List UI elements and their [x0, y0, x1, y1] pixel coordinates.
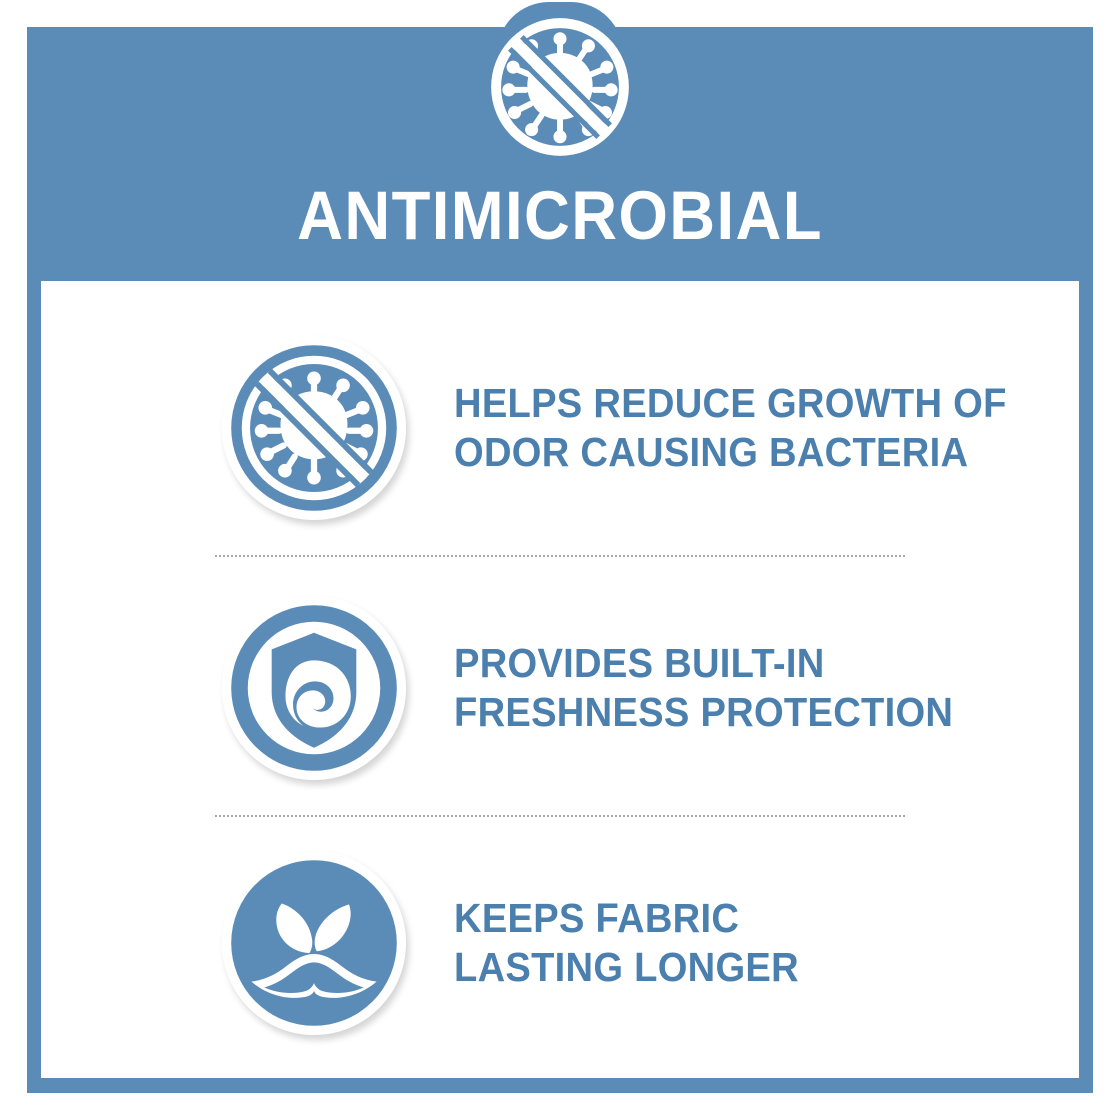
list-item-line-1: PROVIDES BUILT-IN: [454, 639, 953, 688]
list-item-text: HELPS REDUCE GROWTH OF ODOR CAUSING BACT…: [454, 379, 1007, 477]
leaf-fabric-badge-icon: [222, 851, 406, 1035]
list-item[interactable]: KEEPS FABRIC LASTING LONGER: [41, 838, 1079, 1048]
list-item-line-2: LASTING LONGER: [454, 943, 799, 992]
list-item-line-2: FRESHNESS PROTECTION: [454, 688, 953, 737]
antimicrobial-infographic: ANTIMICROBIAL: [0, 0, 1120, 1120]
list-item-line-2: ODOR CAUSING BACTERIA: [454, 428, 1007, 477]
divider: [215, 815, 905, 818]
list-item[interactable]: PROVIDES BUILT-IN FRESHNESS PROTECTION: [41, 583, 1079, 793]
list-item-line-1: HELPS REDUCE GROWTH OF: [454, 379, 1007, 428]
shield-freshness-badge-icon: [222, 596, 406, 780]
divider: [215, 555, 905, 558]
list-item-text: PROVIDES BUILT-IN FRESHNESS PROTECTION: [454, 639, 953, 737]
header: ANTIMICROBIAL: [0, 0, 1120, 281]
no-bacteria-icon: [489, 16, 631, 158]
list-item[interactable]: HELPS REDUCE GROWTH OF ODOR CAUSING BACT…: [41, 323, 1079, 533]
page-title: ANTIMICROBIAL: [45, 178, 1075, 254]
list-item-line-1: KEEPS FABRIC: [454, 894, 799, 943]
list-item-text: KEEPS FABRIC LASTING LONGER: [454, 894, 799, 992]
no-bacteria-badge-icon: [222, 336, 406, 520]
feature-list: HELPS REDUCE GROWTH OF ODOR CAUSING BACT…: [41, 281, 1079, 1078]
